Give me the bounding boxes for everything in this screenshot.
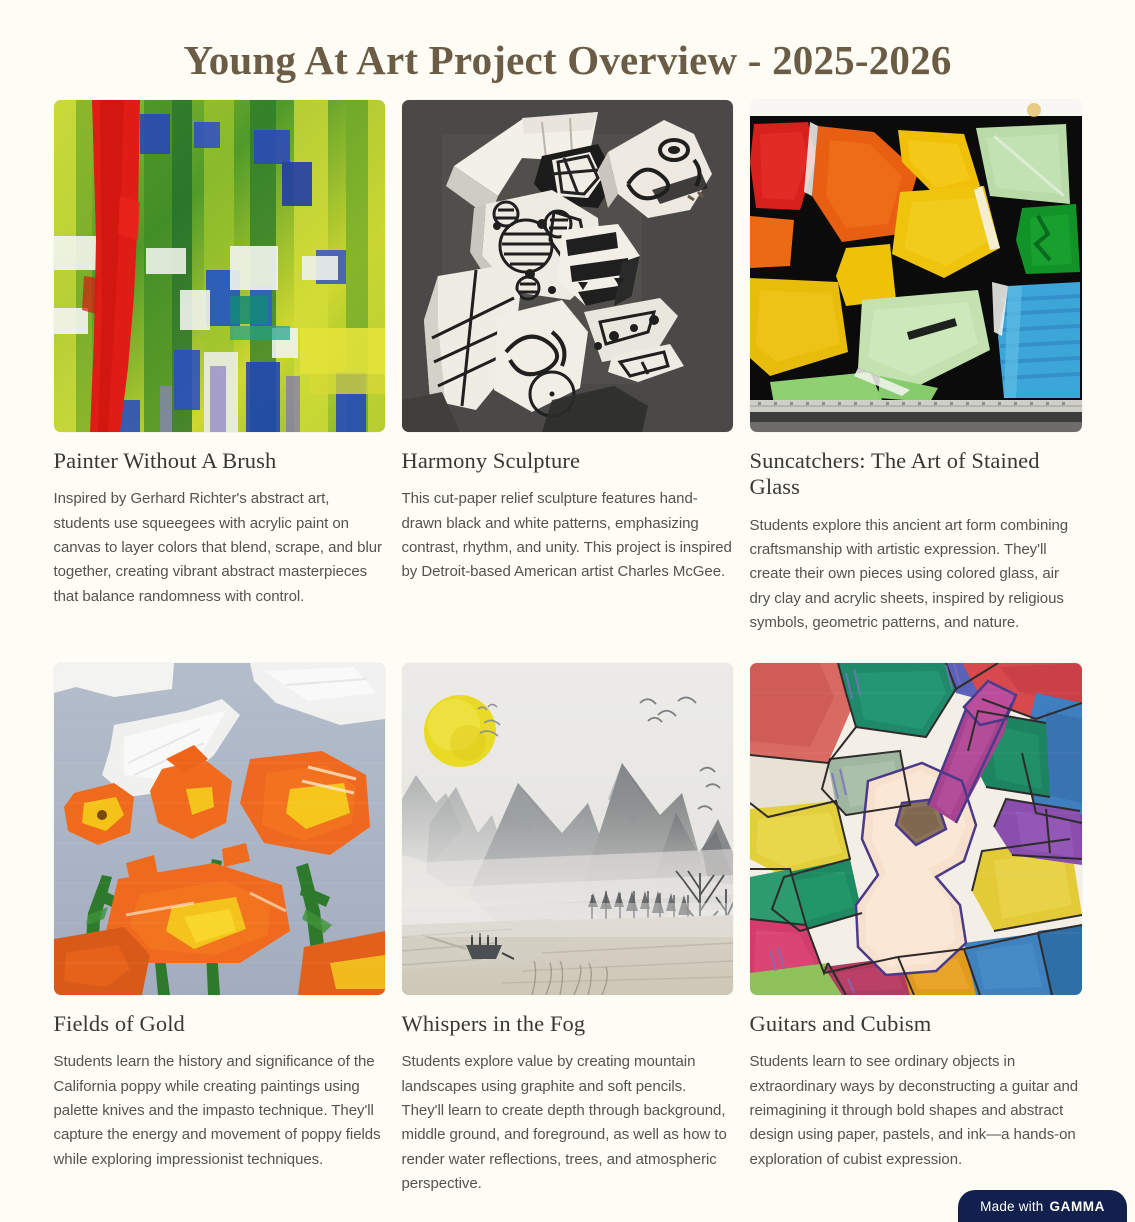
black-white-cut-paper-relief-sculpture-image xyxy=(402,100,733,432)
card-description: Inspired by Gerhard Richter's abstract a… xyxy=(54,487,385,608)
project-card-painter-without-a-brush[interactable]: Painter Without A Brush Inspired by Gerh… xyxy=(54,100,385,635)
project-card-harmony-sculpture[interactable]: Harmony Sculpture This cut-paper relief … xyxy=(402,100,733,635)
impasto-orange-poppy-field-painting-image xyxy=(54,663,385,995)
card-description: Students explore this ancient art form c… xyxy=(750,514,1082,635)
project-card-whispers-in-the-fog[interactable]: Whispers in the Fog Students explore val… xyxy=(402,663,733,1196)
card-title: Whispers in the Fog xyxy=(402,1011,733,1037)
card-description: Students learn the history and significa… xyxy=(54,1050,385,1171)
card-title: Fields of Gold xyxy=(54,1011,385,1037)
badge-brand-label: GAMMA xyxy=(1050,1199,1106,1214)
made-with-gamma-badge[interactable]: Made with GAMMA xyxy=(958,1190,1127,1222)
page-title: Young At Art Project Overview - 2025-202… xyxy=(0,0,1135,90)
abstract-squeegee-painting-green-red-image xyxy=(54,100,385,432)
project-card-grid: Painter Without A Brush Inspired by Gerh… xyxy=(54,90,1082,1196)
card-title: Harmony Sculpture xyxy=(402,448,733,474)
badge-prefix-label: Made with xyxy=(980,1199,1043,1214)
card-title: Suncatchers: The Art of Stained Glass xyxy=(750,448,1082,501)
graphite-misty-mountain-landscape-with-sun-image xyxy=(402,663,733,995)
cubist-guitar-pastel-drawing-image xyxy=(750,663,1082,995)
project-card-fields-of-gold[interactable]: Fields of Gold Students learn the histor… xyxy=(54,663,385,1196)
card-description: Students explore value by creating mount… xyxy=(402,1050,733,1196)
card-description: This cut-paper relief sculpture features… xyxy=(402,487,733,584)
project-card-suncatchers[interactable]: Suncatchers: The Art of Stained Glass St… xyxy=(750,100,1082,635)
stained-glass-suncatcher-colored-panes-image xyxy=(750,100,1082,432)
card-title: Painter Without A Brush xyxy=(54,448,385,474)
card-title: Guitars and Cubism xyxy=(750,1011,1082,1037)
card-description: Students learn to see ordinary objects i… xyxy=(750,1050,1082,1171)
project-card-guitars-and-cubism[interactable]: Guitars and Cubism Students learn to see… xyxy=(750,663,1082,1196)
